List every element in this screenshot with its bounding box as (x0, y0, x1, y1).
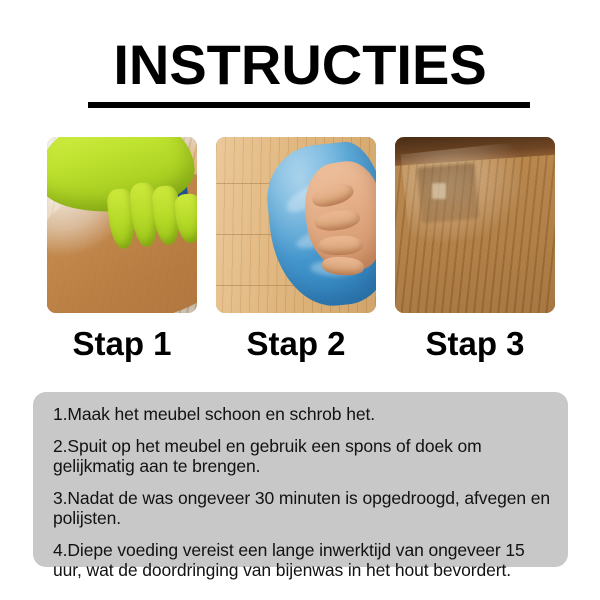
step-label-3: Stap 3 (395, 322, 555, 366)
surface-reflection-highlight (432, 183, 446, 199)
step-label-2: Stap 2 (216, 322, 376, 366)
green-rubber-glove (47, 137, 197, 218)
instruction-item-4: 4.Diepe voeding vereist een lange inwerk… (53, 540, 550, 580)
step-image-2 (216, 137, 376, 313)
step-images-row (47, 137, 555, 313)
title-underline-rule (88, 102, 530, 108)
instructions-panel: 1.Maak het meubel schoon en schrob het. … (33, 392, 568, 567)
step-image-3 (395, 137, 555, 313)
photo-wood-surface-3 (395, 137, 555, 313)
step-label-1: Stap 1 (47, 322, 197, 366)
step-image-1 (47, 137, 197, 313)
page-title-container: INSTRUCTIES (0, 36, 600, 95)
instruction-item-2: 2.Spuit op het meubel en gebruik een spo… (53, 436, 550, 476)
instruction-item-3: 3.Nadat de was ongeveer 30 minuten is op… (53, 488, 550, 528)
instruction-item-1: 1.Maak het meubel schoon en schrob het. (53, 404, 550, 424)
page-title: INSTRUCTIES (113, 36, 486, 95)
surface-reflection (417, 163, 479, 224)
photo-wood-surface-2 (216, 137, 376, 313)
photo-wood-surface-1 (47, 137, 197, 313)
step-labels-row: Stap 1 Stap 2 Stap 3 (47, 322, 555, 366)
